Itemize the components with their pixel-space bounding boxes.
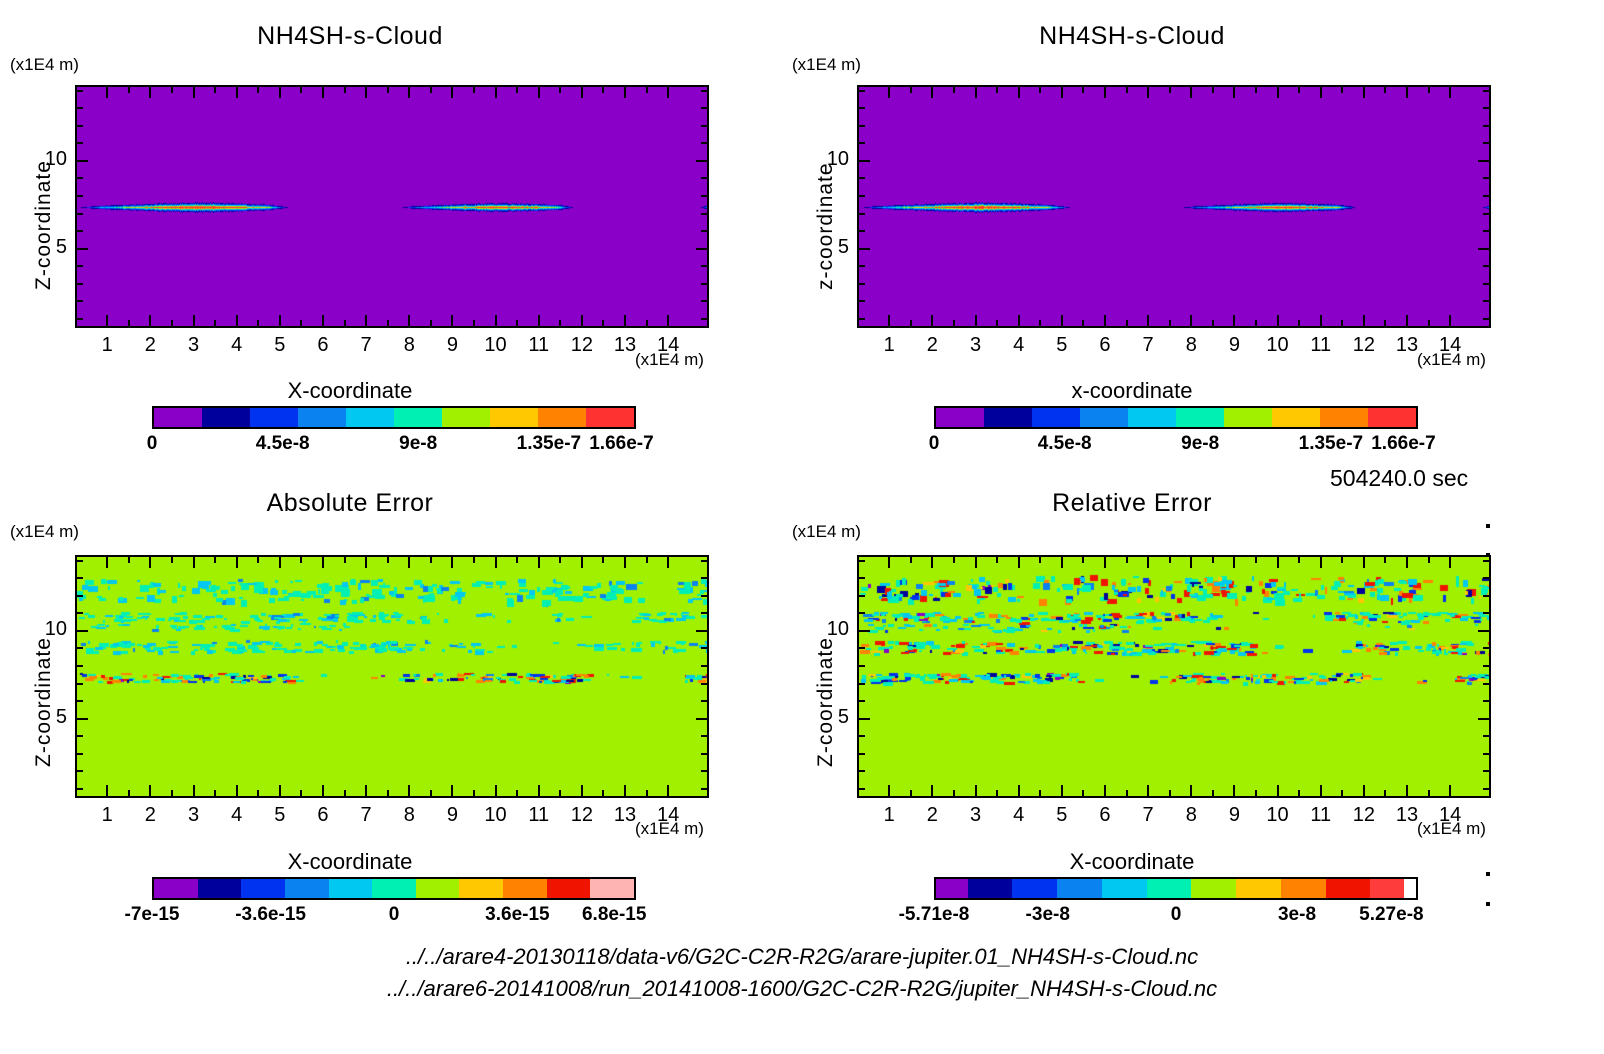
colorbar (152, 877, 636, 900)
axis-tick (106, 785, 108, 796)
axis-tick (859, 595, 865, 597)
axis-tick (77, 230, 83, 232)
axis-tick (996, 557, 998, 563)
axis-tick (646, 557, 648, 563)
axis-tick (77, 595, 83, 597)
axis-tick (859, 283, 865, 285)
axis-tick (1212, 87, 1214, 93)
axis-tick (1104, 87, 1106, 98)
colorbar-segment (490, 408, 538, 427)
x-tick-label: 10 (484, 804, 506, 827)
axis-tick (646, 87, 648, 93)
axis-tick (1341, 790, 1343, 796)
axis-tick (581, 315, 583, 326)
axis-tick (77, 265, 83, 267)
axis-tick (701, 230, 707, 232)
x-tick-label: 1 (102, 804, 113, 827)
colorbar-segment (590, 879, 634, 898)
x-tick-label: 12 (571, 804, 593, 827)
x-tick-label: 2 (927, 334, 938, 357)
axis-tick (1483, 90, 1489, 92)
axis-tick (701, 700, 707, 702)
x-tick-label: 4 (1013, 334, 1024, 357)
axis-tick (1255, 557, 1257, 563)
axis-tick (602, 320, 604, 326)
x-tick-label: 3 (188, 804, 199, 827)
axis-tick (236, 785, 238, 796)
colorbar-tick-label: -7e-15 (125, 904, 180, 926)
axis-tick (888, 557, 890, 568)
x-tick-label: 10 (1266, 804, 1288, 827)
axis-tick (236, 87, 238, 98)
axis-tick (859, 318, 865, 320)
axis-tick (1082, 790, 1084, 796)
axis-tick (701, 107, 707, 109)
axis-tick (1018, 785, 1020, 796)
colorbar-tick-label: 0 (389, 904, 400, 926)
axis-tick (1483, 265, 1489, 267)
axis-tick (1082, 557, 1084, 563)
x-axis-label: x-coordinate (752, 378, 1512, 404)
colorbar-tick-label: -5.71e-8 (899, 904, 970, 926)
y-axis-label: Z-coordinate (32, 637, 56, 767)
axis-tick (859, 718, 870, 720)
axis-tick (701, 142, 707, 144)
axis-tick (149, 87, 151, 98)
x-tick-label: 6 (317, 334, 328, 357)
colorbar-segment (547, 879, 591, 898)
axis-tick (257, 790, 259, 796)
colorbar-segment (1191, 879, 1236, 898)
axis-tick (344, 320, 346, 326)
colorbar-segment (202, 408, 250, 427)
axis-tick (975, 785, 977, 796)
axis-tick (1483, 788, 1489, 790)
colorbar-segment (416, 879, 460, 898)
stray-dot (1486, 524, 1490, 528)
axis-tick (1104, 785, 1106, 796)
axis-tick (1428, 557, 1430, 563)
axis-tick (1298, 320, 1300, 326)
axis-tick (888, 785, 890, 796)
axis-tick (171, 790, 173, 796)
axis-tick (1483, 107, 1489, 109)
x-tick-label: 12 (1353, 804, 1375, 827)
axis-tick (1082, 87, 1084, 93)
axis-tick (279, 557, 281, 568)
axis-tick (624, 315, 626, 326)
y-tick-label: 10 (807, 148, 849, 171)
axis-tick (1190, 87, 1192, 98)
axis-tick (257, 87, 259, 93)
axis-tick (701, 195, 707, 197)
x-tick-label: 2 (145, 804, 156, 827)
axis-tick (214, 87, 216, 93)
axis-tick (602, 87, 604, 93)
x-tick-label: 10 (484, 334, 506, 357)
axis-tick (1018, 87, 1020, 98)
axis-tick (859, 142, 865, 144)
axis-tick (1483, 125, 1489, 127)
plot-area (857, 555, 1491, 798)
x-tick-label: 5 (1056, 804, 1067, 827)
axis-tick (538, 315, 540, 326)
x-tick-label: 11 (1310, 334, 1331, 357)
axis-tick (365, 557, 367, 568)
colorbar-segment (1147, 879, 1192, 898)
axis-tick (128, 320, 130, 326)
axis-tick (300, 320, 302, 326)
axis-tick (1483, 230, 1489, 232)
axis-tick (106, 87, 108, 98)
axis-tick (559, 320, 561, 326)
axis-tick (77, 700, 83, 702)
axis-tick (701, 788, 707, 790)
axis-tick (859, 753, 865, 755)
axis-tick (1320, 87, 1322, 98)
axis-tick (516, 87, 518, 93)
panel-bottom-right: Relative Error (x1E4 m) Z-coordinate (x1… (782, 467, 1542, 947)
colorbar-tick-label: 4.5e-8 (1038, 433, 1092, 455)
colorbar-segment (1102, 879, 1147, 898)
axis-tick (77, 107, 83, 109)
x-tick-label: 7 (361, 804, 372, 827)
axis-tick (1255, 320, 1257, 326)
axis-tick (1126, 87, 1128, 93)
axis-tick (77, 770, 83, 772)
axis-tick (365, 785, 367, 796)
colorbar-tick-label: 4.5e-8 (256, 433, 310, 455)
axis-tick (1363, 557, 1365, 568)
axis-tick (996, 790, 998, 796)
axis-tick (701, 90, 707, 92)
axis-tick (696, 718, 707, 720)
colorbar-segment (298, 408, 346, 427)
axis-tick (408, 315, 410, 326)
axis-tick (931, 557, 933, 568)
axis-tick (77, 683, 83, 685)
stray-dot (1486, 902, 1490, 906)
axis-tick (322, 315, 324, 326)
colorbar-segment (968, 879, 1013, 898)
axis-tick (77, 213, 83, 215)
axis-tick (1483, 700, 1489, 702)
x-tick-label: 14 (657, 804, 679, 827)
colorbar-segment (1272, 408, 1320, 427)
axis-tick (495, 87, 497, 98)
axis-tick (859, 177, 865, 179)
y-tick-label: 10 (25, 148, 67, 171)
axis-tick (77, 735, 83, 737)
x-tick-label: 11 (528, 334, 549, 357)
axis-tick (214, 790, 216, 796)
axis-tick (1428, 87, 1430, 93)
x-tick-label: 4 (1013, 804, 1024, 827)
x-tick-label: 9 (1229, 804, 1240, 827)
axis-tick (1277, 87, 1279, 98)
axis-tick (1406, 785, 1408, 796)
colorbar-tick-label: 3e-8 (1278, 904, 1316, 926)
x-tick-label: 6 (317, 804, 328, 827)
axis-tick (365, 315, 367, 326)
axis-tick (365, 87, 367, 98)
axis-tick (171, 557, 173, 563)
axis-tick (701, 125, 707, 127)
axis-tick (1428, 320, 1430, 326)
axis-tick (430, 557, 432, 563)
axis-tick (77, 665, 83, 667)
colorbar-tick-label: 1.66e-7 (1371, 433, 1435, 455)
axis-tick (1233, 557, 1235, 568)
axis-tick (387, 557, 389, 563)
panel-bottom-left: Absolute Error (x1E4 m) Z-coordinate (x1… (0, 467, 760, 947)
axis-tick (931, 785, 933, 796)
axis-tick (1449, 87, 1451, 98)
axis-tick (602, 790, 604, 796)
axis-tick (1169, 87, 1171, 93)
heatmap-field (77, 557, 709, 798)
axis-tick (1018, 557, 1020, 568)
axis-tick (300, 557, 302, 563)
axis-tick (701, 612, 707, 614)
axis-tick (1298, 87, 1300, 93)
axis-tick (344, 790, 346, 796)
x-tick-label: 5 (274, 804, 285, 827)
x-tick-label: 9 (1229, 334, 1240, 357)
axis-tick (1190, 315, 1192, 326)
axis-tick (859, 788, 865, 790)
y-tick-label: 10 (807, 618, 849, 641)
axis-tick (1233, 315, 1235, 326)
axis-tick (1341, 87, 1343, 93)
stray-dot (1486, 872, 1490, 876)
colorbar-tick-label: 1.66e-7 (589, 433, 653, 455)
axis-tick (1277, 557, 1279, 568)
axis-tick (1483, 213, 1489, 215)
colorbar (934, 877, 1418, 900)
axis-tick (696, 248, 707, 250)
plot-area (75, 85, 709, 328)
axis-tick (516, 557, 518, 563)
panel-title: NH4SH-s-Cloud (752, 22, 1512, 51)
stray-dot (1486, 553, 1490, 557)
axis-tick (128, 557, 130, 563)
colorbar-segment (936, 408, 984, 427)
axis-tick (1104, 315, 1106, 326)
axis-tick (1039, 87, 1041, 93)
axis-tick (344, 87, 346, 93)
axis-tick (859, 107, 865, 109)
axis-tick (859, 230, 865, 232)
axis-tick (1483, 612, 1489, 614)
caption-line-1: ../../arare4-20130118/data-v6/G2C-C2R-R2… (0, 944, 1604, 970)
axis-tick (667, 785, 669, 796)
axis-tick (1233, 785, 1235, 796)
axis-tick (1320, 557, 1322, 568)
x-tick-label: 1 (884, 334, 895, 357)
axis-tick (910, 87, 912, 93)
x-tick-label: 4 (231, 804, 242, 827)
colorbar-segment (346, 408, 394, 427)
x-tick-label: 7 (361, 334, 372, 357)
axis-tick (77, 177, 83, 179)
axis-tick (322, 785, 324, 796)
x-axis-label: X-coordinate (0, 378, 730, 404)
y-axis-label: Z-coordinate (814, 637, 838, 767)
axis-tick (538, 785, 540, 796)
colorbar-segment (285, 879, 329, 898)
colorbar-segment (198, 879, 242, 898)
axis-tick (77, 195, 83, 197)
axis-tick (701, 283, 707, 285)
axis-tick (1255, 790, 1257, 796)
colorbar-segment (250, 408, 298, 427)
axis-tick (1147, 557, 1149, 568)
colorbar-segment (442, 408, 490, 427)
axis-tick (1169, 557, 1171, 563)
axis-tick (1363, 315, 1365, 326)
axis-tick (387, 87, 389, 93)
axis-tick (859, 560, 865, 562)
x-tick-label: 6 (1099, 334, 1110, 357)
axis-tick (1082, 320, 1084, 326)
axis-tick (77, 248, 88, 250)
colorbar-tick-label: 0 (147, 433, 158, 455)
axis-tick (859, 248, 870, 250)
y-tick-label: 5 (25, 236, 67, 259)
colorbar-segment (984, 408, 1032, 427)
axis-tick (910, 790, 912, 796)
axis-tick (538, 557, 540, 568)
axis-tick (1147, 785, 1149, 796)
axis-tick (495, 785, 497, 796)
axis-tick (1126, 320, 1128, 326)
x-tick-label: 8 (1186, 334, 1197, 357)
axis-tick (996, 320, 998, 326)
axis-tick (701, 647, 707, 649)
axis-tick (624, 785, 626, 796)
axis-tick (344, 557, 346, 563)
colorbar-segment (1176, 408, 1224, 427)
axis-tick (473, 320, 475, 326)
axis-tick (701, 265, 707, 267)
axis-tick (559, 557, 561, 563)
axis-tick (701, 770, 707, 772)
axis-tick (701, 595, 707, 597)
axis-tick (1277, 785, 1279, 796)
axis-tick (77, 160, 88, 162)
x-tick-label: 13 (1396, 334, 1418, 357)
axis-tick (1478, 718, 1489, 720)
colorbar-tick-label: -3.6e-15 (235, 904, 306, 926)
axis-tick (77, 718, 88, 720)
x-tick-label: 8 (1186, 804, 1197, 827)
axis-tick (300, 790, 302, 796)
axis-tick (279, 87, 281, 98)
axis-tick (1233, 87, 1235, 98)
axis-tick (473, 87, 475, 93)
axis-tick (602, 557, 604, 563)
colorbar-segment (1236, 879, 1281, 898)
axis-tick (1061, 557, 1063, 568)
x-tick-label: 7 (1143, 334, 1154, 357)
x-tick-label: 14 (1439, 334, 1461, 357)
axis-tick (646, 790, 648, 796)
axis-tick (1428, 790, 1430, 796)
axis-tick (1363, 785, 1365, 796)
axis-tick (1363, 87, 1365, 98)
colorbar-segment (503, 879, 547, 898)
x-tick-label: 5 (1056, 334, 1067, 357)
colorbar-tick-label: 0 (1171, 904, 1182, 926)
axis-tick (701, 560, 707, 562)
axis-tick (701, 318, 707, 320)
axis-tick (77, 560, 83, 562)
axis-tick (1483, 735, 1489, 737)
colorbar (934, 406, 1418, 429)
axis-tick (859, 647, 865, 649)
panel-top-right: NH4SH-s-Cloud (x1E4 m) z-coordinate (x1E… (782, 0, 1542, 470)
axis-tick (1478, 160, 1489, 162)
axis-tick (1190, 785, 1192, 796)
axis-tick (859, 630, 870, 632)
x-tick-label: 5 (274, 334, 285, 357)
axis-tick (451, 785, 453, 796)
colorbar-segment (1057, 879, 1102, 898)
panel-title: NH4SH-s-Cloud (0, 22, 730, 51)
x-tick-label: 13 (614, 804, 636, 827)
axis-tick (387, 790, 389, 796)
colorbar-segment (586, 408, 634, 427)
axis-tick (1483, 560, 1489, 562)
colorbar-segment (329, 879, 373, 898)
axis-tick (193, 557, 195, 568)
axis-tick (77, 125, 83, 127)
x-tick-label: 3 (970, 334, 981, 357)
x-tick-label: 10 (1266, 334, 1288, 357)
x-tick-label: 11 (528, 804, 549, 827)
axis-tick (1126, 557, 1128, 563)
colorbar-segment (1224, 408, 1272, 427)
axis-tick (1039, 320, 1041, 326)
axis-tick (473, 790, 475, 796)
axis-tick (77, 318, 83, 320)
axis-tick (193, 315, 195, 326)
axis-tick (77, 612, 83, 614)
colorbar-segment (372, 879, 416, 898)
colorbar-segment (1032, 408, 1080, 427)
axis-tick (910, 320, 912, 326)
y-tick-label: 10 (25, 618, 67, 641)
y-axis-label: Z-coordinate (32, 160, 56, 290)
colorbar-segment (1281, 879, 1326, 898)
axis-tick (1483, 318, 1489, 320)
x-tick-label: 11 (1310, 804, 1331, 827)
x-tick-label: 9 (447, 334, 458, 357)
axis-tick (624, 557, 626, 568)
axis-tick (128, 87, 130, 93)
axis-tick (975, 557, 977, 568)
axis-tick (1384, 320, 1386, 326)
plot-area (75, 555, 709, 798)
x-axis-label: X-coordinate (0, 849, 730, 875)
axis-tick (473, 557, 475, 563)
x-tick-label: 1 (884, 804, 895, 827)
axis-tick (559, 790, 561, 796)
axis-tick (1341, 320, 1343, 326)
axis-tick (581, 87, 583, 98)
axis-tick (701, 300, 707, 302)
